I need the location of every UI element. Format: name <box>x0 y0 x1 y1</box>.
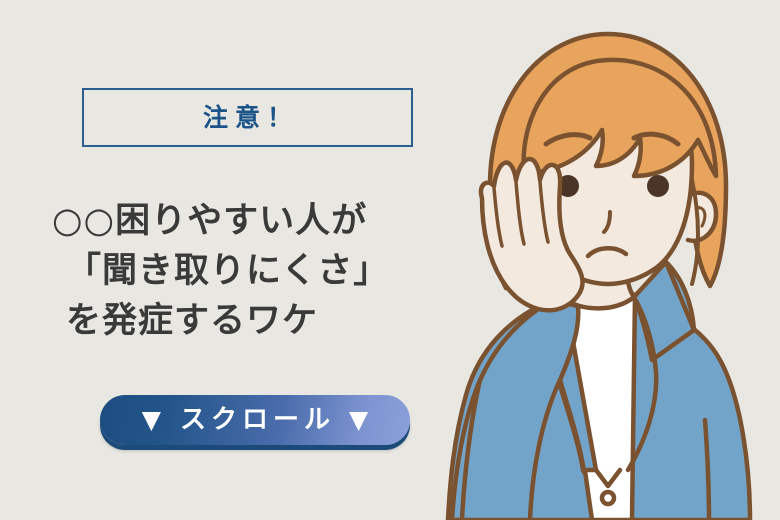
scroll-button[interactable]: ▼ スクロール ▼ <box>100 395 410 445</box>
caret-down-left-icon: ▼ <box>142 407 161 432</box>
caret-down-right-icon: ▼ <box>349 407 368 432</box>
notice-label: 注意！ <box>196 105 299 130</box>
ear-right <box>688 193 716 241</box>
illustration-woman-cupping-ear <box>420 0 780 520</box>
headline: ○○困りやすい人が 「聞き取りにくさ」 を発症するワケ <box>52 196 452 346</box>
eye-right <box>647 175 669 197</box>
headline-line-3: を発症するワケ <box>52 296 452 346</box>
scroll-button-label: スクロール <box>175 407 335 433</box>
scroll-button-content: ▼ スクロール ▼ <box>142 407 368 433</box>
promo-slide: 注意！ ○○困りやすい人が 「聞き取りにくさ」 を発症するワケ ▼ スクロール … <box>0 0 780 520</box>
woman-illustration-svg <box>420 0 780 520</box>
jacket-button <box>602 492 614 504</box>
headline-line-2: 「聞き取りにくさ」 <box>52 246 452 296</box>
headline-line-1: ○○困りやすい人が <box>52 196 452 246</box>
notice-box: 注意！ <box>82 88 413 147</box>
